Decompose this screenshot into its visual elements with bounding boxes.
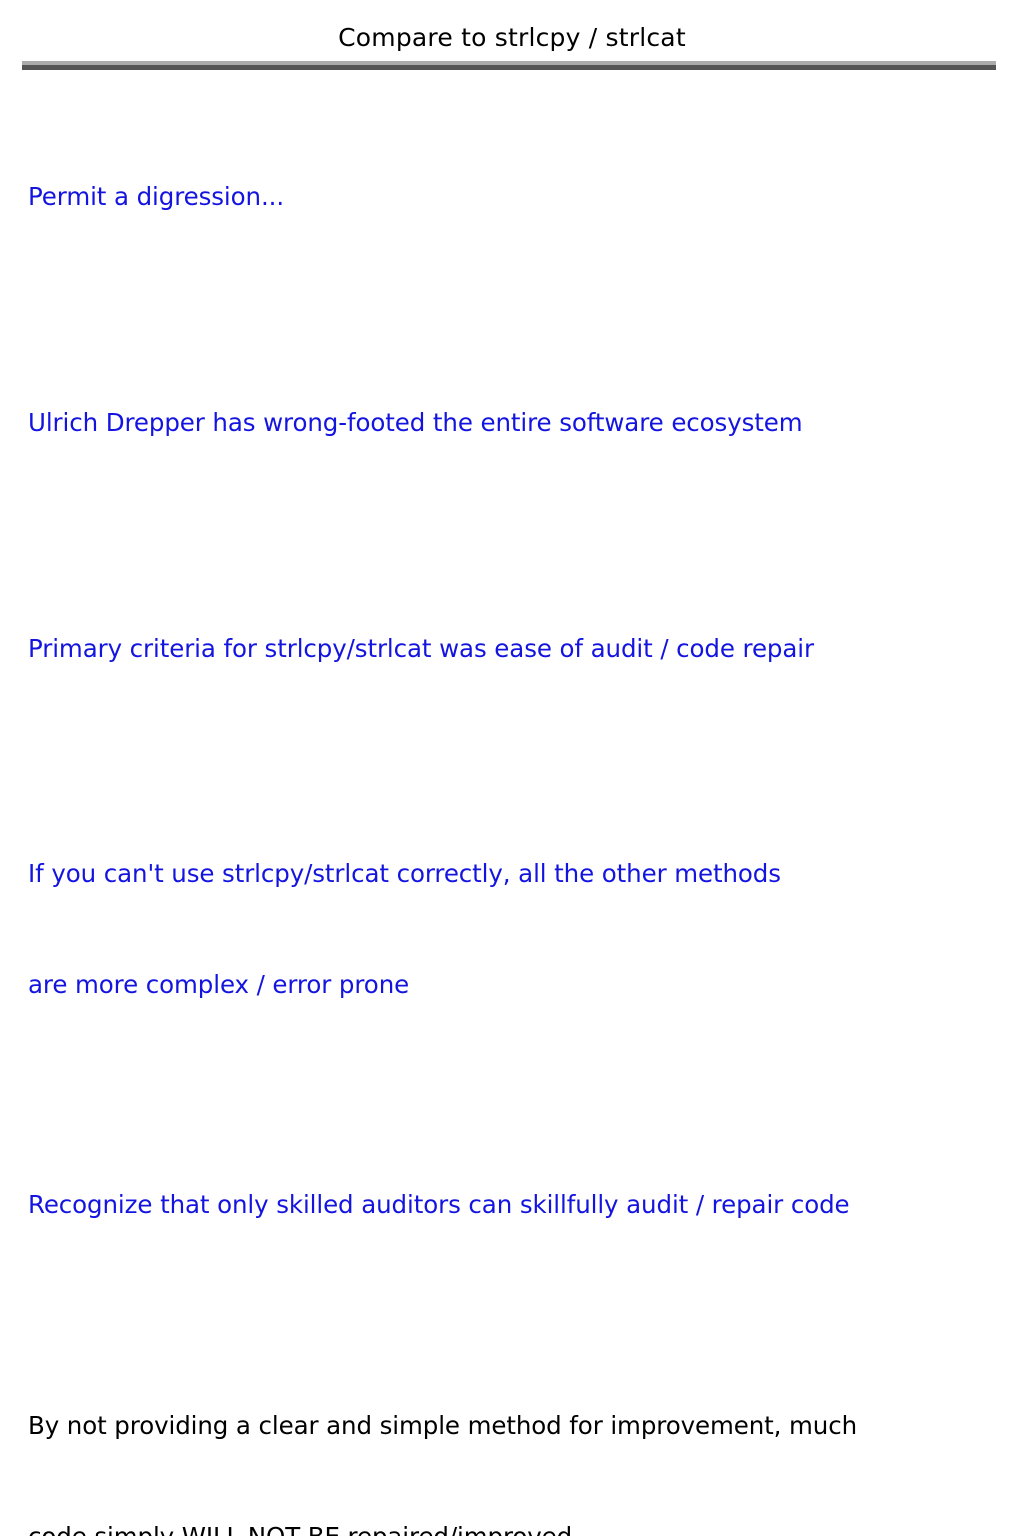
paragraph-line: If you can't use strlcpy/strlcat correct… bbox=[28, 855, 998, 892]
page-title: Compare to strlcpy / strlcat bbox=[0, 22, 1024, 54]
title-divider bbox=[22, 61, 996, 70]
content-paragraph-1: Permit a digression... bbox=[28, 104, 998, 289]
paragraph-line: Recognize that only skilled auditors can… bbox=[28, 1186, 998, 1223]
content-paragraph-3: Primary criteria for strlcpy/strlcat was… bbox=[28, 556, 998, 741]
title-divider-dark-band bbox=[22, 65, 996, 70]
slide-content: Permit a digression... Ulrich Drepper ha… bbox=[28, 104, 998, 1536]
paragraph-line: are more complex / error prone bbox=[28, 966, 998, 1003]
paragraph-line: Permit a digression... bbox=[28, 178, 998, 215]
content-paragraph-2: Ulrich Drepper has wrong-footed the enti… bbox=[28, 330, 998, 515]
paragraph-line: By not providing a clear and simple meth… bbox=[28, 1407, 998, 1444]
paragraph-line: Primary criteria for strlcpy/strlcat was… bbox=[28, 630, 998, 667]
paragraph-line: Ulrich Drepper has wrong-footed the enti… bbox=[28, 404, 998, 441]
paragraph-line: code simply WILL NOT BE repaired/improve… bbox=[28, 1518, 998, 1536]
content-paragraph-4: If you can't use strlcpy/strlcat correct… bbox=[28, 781, 998, 1077]
content-paragraph-5: Recognize that only skilled auditors can… bbox=[28, 1112, 998, 1297]
content-paragraph-6: By not providing a clear and simple meth… bbox=[28, 1333, 998, 1536]
